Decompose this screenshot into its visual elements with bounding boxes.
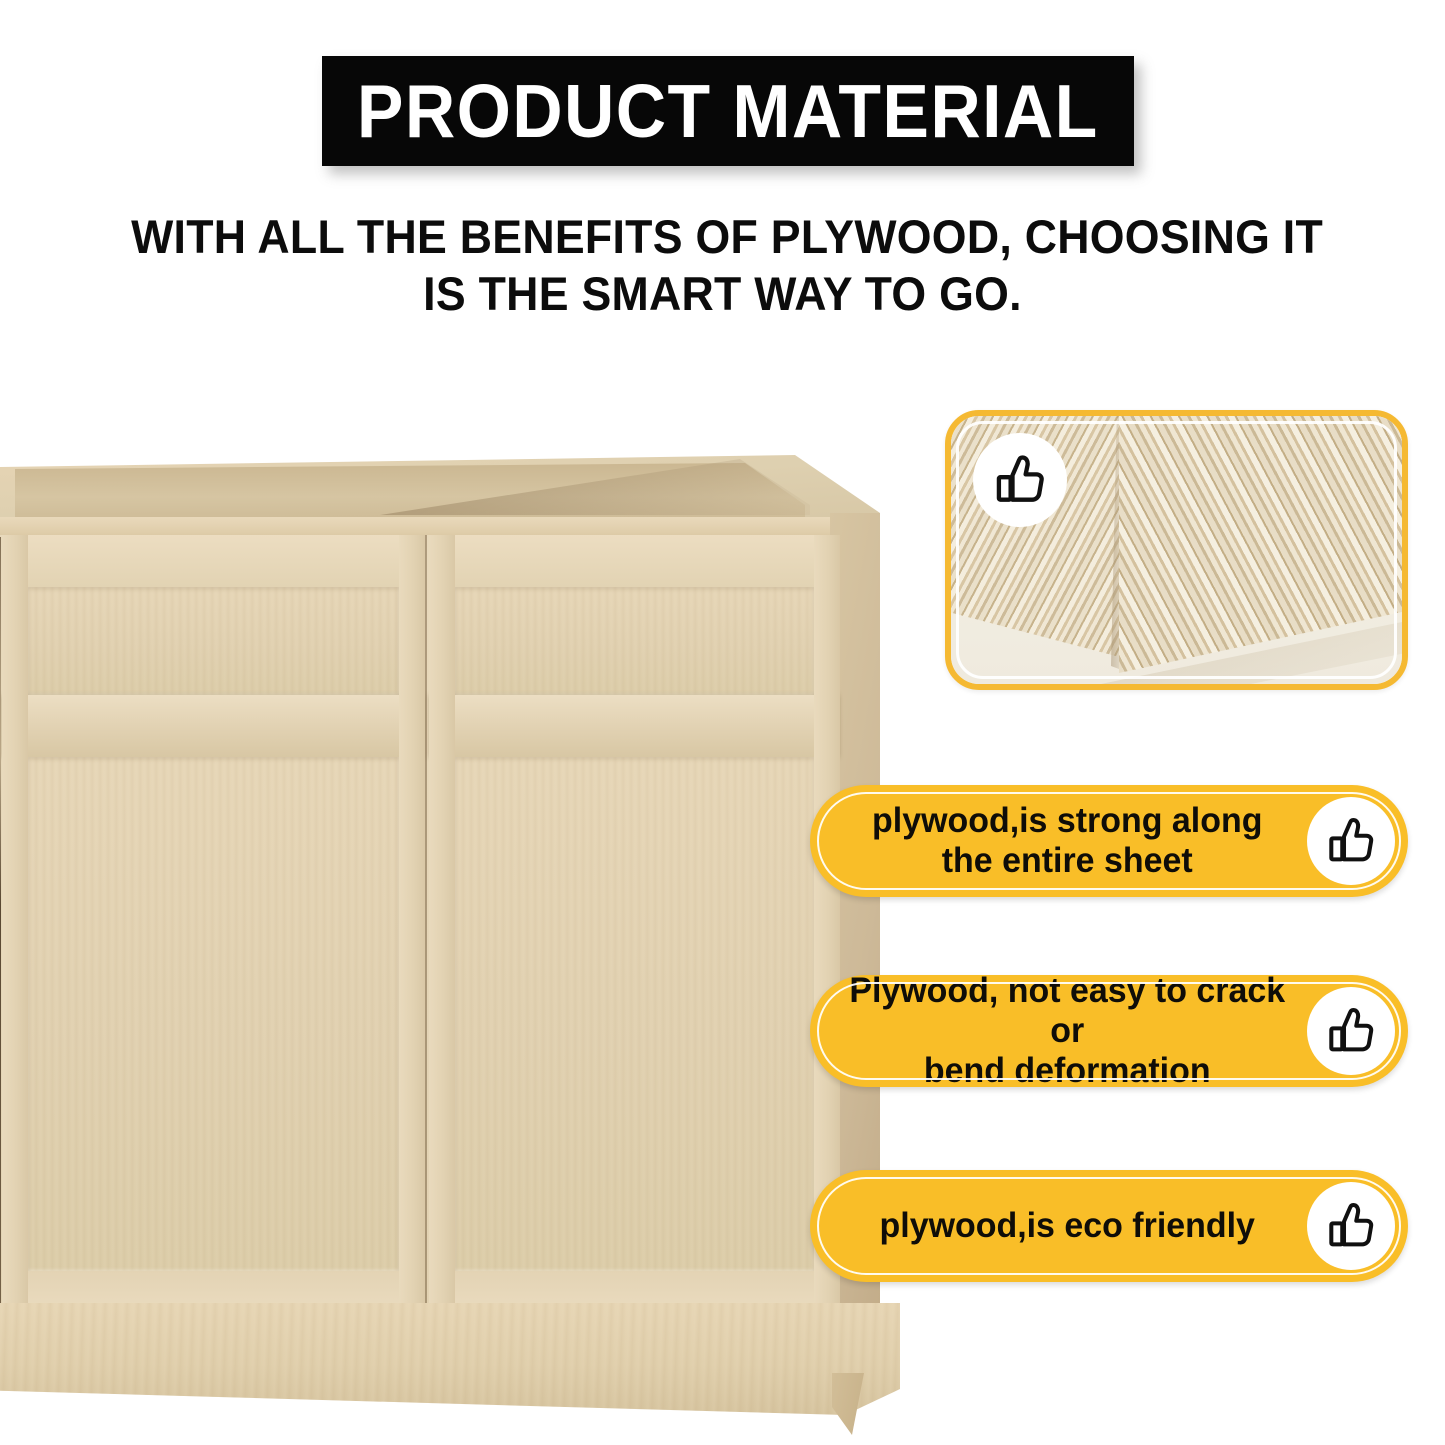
page-title: PRODUCT MATERIAL xyxy=(357,74,1099,149)
feature-line-2: bend deformation xyxy=(924,1051,1211,1090)
feature-line-2: the entire sheet xyxy=(942,841,1193,880)
door-rail-bottom xyxy=(429,1271,840,1305)
feature-badge-label: plywood,is eco friendly xyxy=(817,1206,1299,1246)
feature-badge-durability[interactable]: Plywood, not easy to crack or bend defor… xyxy=(810,975,1408,1087)
feature-line-1: plywood,is eco friendly xyxy=(880,1206,1255,1245)
subtitle-line-1: WITH ALL THE BENEFITS OF PLYWOOD, CHOOSI… xyxy=(131,208,1314,265)
cabinet-door-bank xyxy=(0,535,840,1305)
thumbs-up-icon xyxy=(990,450,1050,510)
door-gap-seam xyxy=(0,537,1,1303)
thumbs-up-badge xyxy=(973,433,1067,527)
material-photo-card xyxy=(945,410,1408,690)
door-rail-bottom xyxy=(2,1271,425,1305)
feature-badge-label: plywood,is strong along the entire sheet xyxy=(817,801,1299,881)
product-photo-cabinet xyxy=(0,455,940,1360)
feature-badge-list: plywood,is strong along the entire sheet… xyxy=(810,785,1410,1285)
door-rail-top xyxy=(429,535,840,587)
door-panel-lower xyxy=(455,757,814,1271)
page-title-banner: PRODUCT MATERIAL xyxy=(322,56,1134,166)
cabinet-door-right xyxy=(429,535,840,1305)
door-stile-left xyxy=(2,535,28,1305)
thumbs-up-icon xyxy=(1323,1003,1379,1059)
subtitle-line-2: IS THE SMART WAY TO GO. xyxy=(131,265,1314,322)
door-rail-middle xyxy=(2,695,425,757)
feature-badge-strength[interactable]: plywood,is strong along the entire sheet xyxy=(810,785,1408,897)
product-material-infographic: PRODUCT MATERIAL WITH ALL THE BENEFITS O… xyxy=(0,0,1445,1445)
cabinet-base-plinth xyxy=(0,1303,900,1415)
door-panel-upper xyxy=(28,587,399,695)
feature-line-1: plywood,is strong along xyxy=(872,801,1262,840)
feature-line-1: Plywood, not easy to crack or xyxy=(849,971,1285,1050)
feature-badge-eco[interactable]: plywood,is eco friendly xyxy=(810,1170,1408,1282)
door-panel-lower xyxy=(28,757,399,1271)
cabinet-door-middle xyxy=(2,535,427,1305)
thumbs-up-badge xyxy=(1307,797,1395,885)
door-rail-middle xyxy=(429,695,840,757)
thumbs-up-icon xyxy=(1323,1198,1379,1254)
thumbs-up-badge xyxy=(1307,987,1395,1075)
feature-badge-label: Plywood, not easy to crack or bend defor… xyxy=(817,971,1299,1091)
door-stile-left xyxy=(429,535,455,1305)
door-rail-top xyxy=(2,535,425,587)
thumbs-up-badge xyxy=(1307,1182,1395,1270)
page-subtitle: WITH ALL THE BENEFITS OF PLYWOOD, CHOOSI… xyxy=(131,208,1314,323)
door-panel-upper xyxy=(455,587,814,695)
door-stile-right xyxy=(399,535,425,1305)
thumbs-up-icon xyxy=(1323,813,1379,869)
